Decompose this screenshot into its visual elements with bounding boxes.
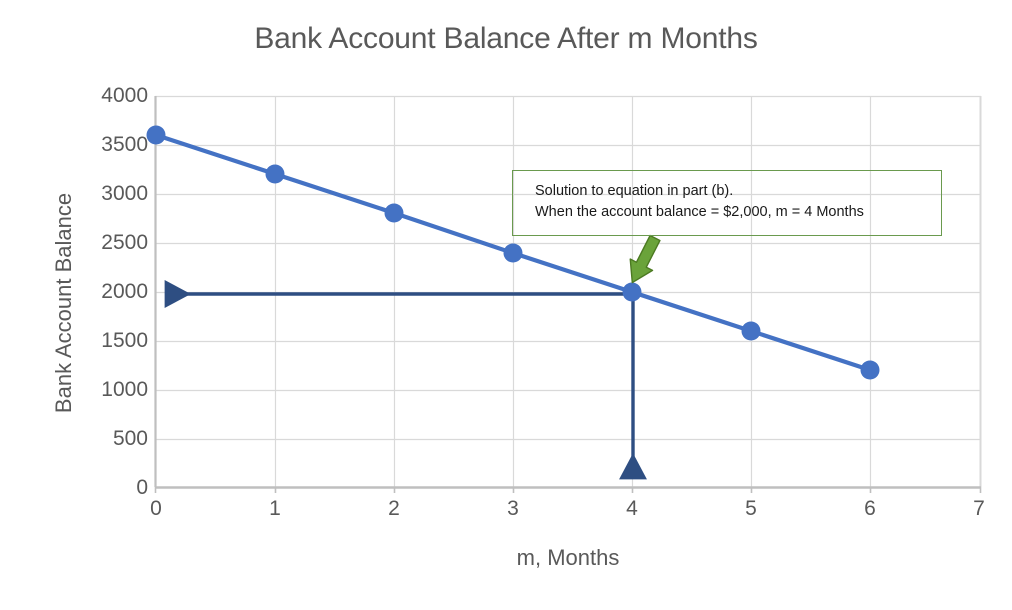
data-point-1 [266, 165, 285, 184]
callout-line-2: When the account balance = $2,000, m = 4… [535, 202, 941, 223]
horizontal-gridlines [155, 97, 981, 440]
data-point-4 [623, 283, 642, 302]
callout-line-1: Solution to equation in part (b). [535, 181, 941, 202]
chart-container: Bank Account Balance After m Months Bank… [0, 0, 1012, 610]
data-point-6 [861, 361, 880, 380]
solution-callout: Solution to equation in part (b). When t… [512, 170, 942, 236]
plot-area [0, 0, 1012, 610]
data-point-2 [385, 204, 404, 223]
data-point-3 [504, 244, 523, 263]
vertical-gridlines [276, 96, 871, 487]
data-point-5 [742, 322, 761, 341]
green-pointer-arrow [621, 232, 666, 288]
data-point-0 [147, 126, 166, 145]
